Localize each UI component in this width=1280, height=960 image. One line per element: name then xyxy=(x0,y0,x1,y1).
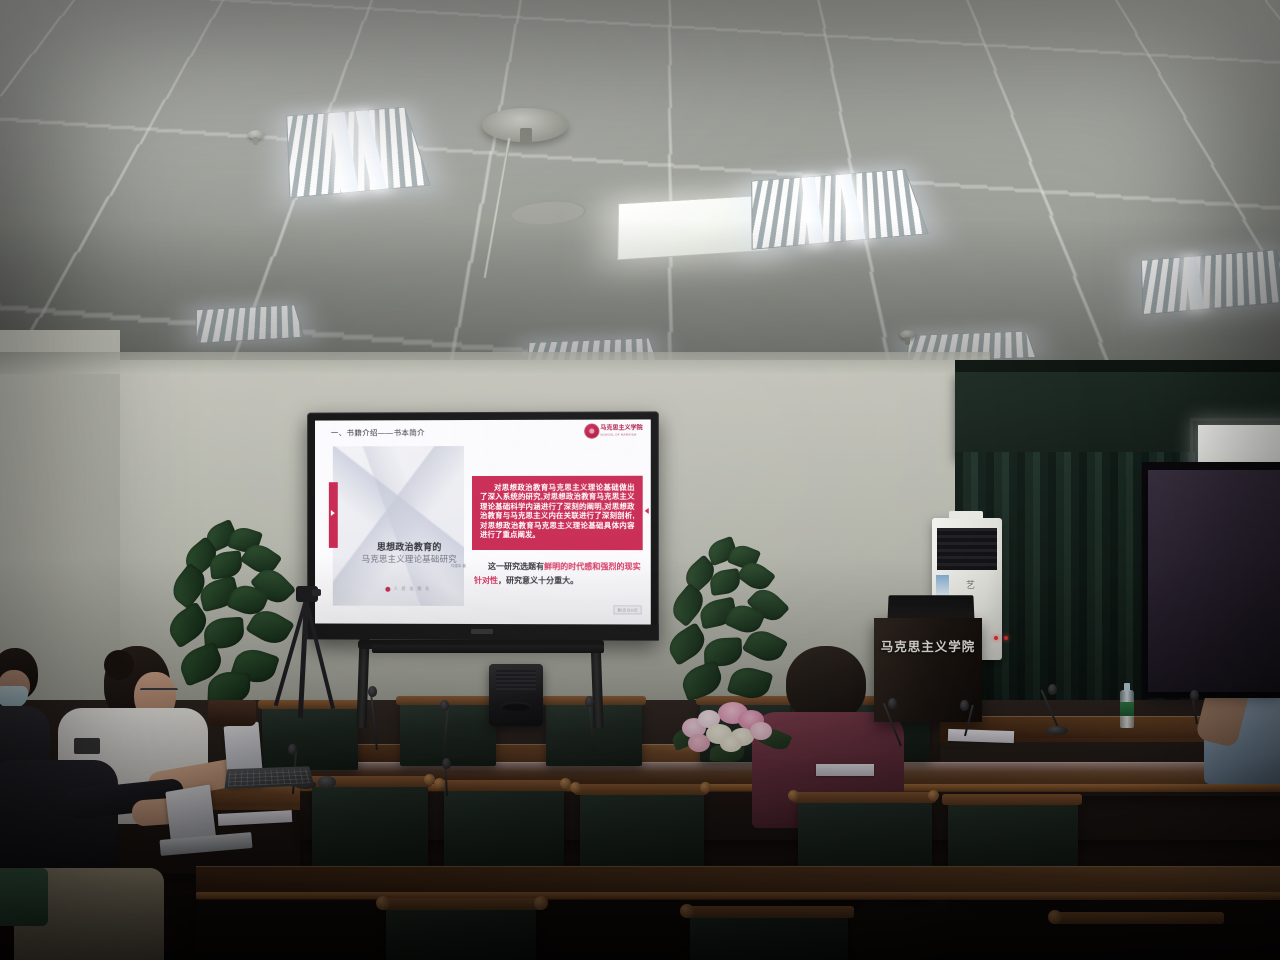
chair-frame-front-4 xyxy=(792,792,936,803)
chair-knob-front-4 xyxy=(788,790,799,801)
interactive-flat-panel-display[interactable]: 一、书籍介绍——书本简介 马克思主义学院 SCHOOL OF MARXISM 思… xyxy=(307,411,659,640)
slide-polygon-graphic xyxy=(333,446,464,606)
chair-frame-foreground-3 xyxy=(1054,912,1224,924)
display-screen[interactable]: 一、书籍介绍——书本简介 马克思主义学院 SCHOOL OF MARXISM 思… xyxy=(315,419,651,624)
camera-tripod-head[interactable] xyxy=(296,586,318,602)
publisher-name: 人 民 出 版 社 xyxy=(394,586,431,592)
chair-knob-front-3b xyxy=(700,782,711,793)
chair-front-1[interactable] xyxy=(312,782,428,872)
microphone-head-8 xyxy=(960,700,969,711)
paper-document-center xyxy=(816,764,874,776)
microphone-head-7 xyxy=(442,758,451,769)
conclusion-lead: 这一研究选题有 xyxy=(488,562,544,571)
chair-frame-foreground-1 xyxy=(380,898,542,910)
flower-arrangement xyxy=(676,700,784,760)
seal-icon xyxy=(585,425,598,438)
chair-frame-front-5 xyxy=(942,794,1082,805)
potted-plant-right xyxy=(664,540,790,726)
rose-3 xyxy=(688,734,710,752)
presentation-slide: 一、书籍介绍——书本简介 马克思主义学院 SCHOOL OF MARXISM 思… xyxy=(315,419,651,624)
chair-knob-front-2 xyxy=(434,778,445,789)
microphone-head-4 xyxy=(888,698,897,709)
slide-left-accent-tab xyxy=(329,482,338,548)
bag-green xyxy=(0,868,48,926)
microphone-base-5 xyxy=(1046,726,1068,735)
red-block-paragraph: 对思想政治教育马克思主义理论基础做出了深入系统的研究,对思想政治教育马克思主义理… xyxy=(480,483,635,540)
table-edge-foreground xyxy=(196,892,1280,899)
podium-label: 马克思主义学院 xyxy=(878,636,978,655)
microphone-head-1 xyxy=(368,686,377,697)
chair-foreground-1[interactable] xyxy=(386,904,536,960)
paper-document-right xyxy=(948,729,1014,743)
chair-knob-front-4b xyxy=(928,790,939,801)
logo-text: 马克思主义学院 xyxy=(600,426,642,432)
microphone-head-2 xyxy=(440,700,449,711)
book-author: 刘建军 著 xyxy=(410,564,466,569)
chair-knob-fg-1b xyxy=(534,896,548,910)
logo-subtext: SCHOOL OF MARXISM xyxy=(600,432,642,436)
head-maroon xyxy=(786,646,866,722)
book-publisher: 人 民 出 版 社 xyxy=(355,586,462,592)
book-title: 思想政治教育的 xyxy=(355,540,464,553)
chair-frame-front-3 xyxy=(574,784,708,795)
ac-vent-grille xyxy=(937,528,997,570)
rose-4 xyxy=(750,722,772,740)
conclusion-tail: ，研究意义十分重大。 xyxy=(498,576,578,585)
chair-knob-front-3 xyxy=(570,782,581,793)
torso-dark-jacket xyxy=(0,760,118,880)
conclusion-highlight-1: 鲜明的时代感和强烈的现 xyxy=(544,562,633,571)
chair-foreground-2[interactable] xyxy=(690,912,848,960)
chair-knob-fg-2 xyxy=(680,904,694,918)
cream-flower-3 xyxy=(720,736,742,752)
ac-top-cap xyxy=(949,511,983,519)
wireless-keyboard[interactable] xyxy=(224,766,314,789)
suspended-ceiling xyxy=(0,0,1280,400)
slide-red-text-block: 对思想政治教育马克思主义理论基础做出了深入系统的研究,对思想政治教育马克思主义理… xyxy=(472,476,643,550)
chair-knob-fg-1 xyxy=(376,896,390,910)
slide-heading: 一、书籍介绍——书本简介 xyxy=(331,427,425,438)
secondary-display[interactable] xyxy=(1148,470,1280,692)
microphone-head-6 xyxy=(288,744,297,755)
attendee-dark-jacket xyxy=(0,760,200,960)
slide-conclusion: 这一研究选题有鲜明的时代感和强烈的现实针对性，研究意义十分重大。 xyxy=(474,560,641,588)
podium-led-2 xyxy=(1004,636,1008,640)
bottle-label xyxy=(1120,702,1134,716)
shirt-graphic xyxy=(74,738,100,754)
floor-speaker xyxy=(489,664,543,726)
wireless-mouse[interactable] xyxy=(318,776,336,788)
hair-bun xyxy=(104,650,134,680)
slide-page-badge: 第1页 共10页 xyxy=(613,605,641,614)
publisher-mark-icon xyxy=(386,586,391,591)
podium-led-1 xyxy=(994,636,998,640)
chair-frame-front-2 xyxy=(438,780,568,791)
university-seal-logo: 马克思主义学院 SCHOOL OF MARXISM xyxy=(585,424,642,437)
microphone-head-3 xyxy=(585,696,594,707)
microphone-head-9 xyxy=(1190,690,1199,701)
face-mask-icon xyxy=(0,686,28,708)
plant-pot-left xyxy=(208,700,256,726)
wall-soffit xyxy=(0,352,990,374)
chair-knob-fg-3 xyxy=(1048,910,1062,924)
chair-frame-foreground-2 xyxy=(684,906,854,918)
display-chin-bar xyxy=(307,623,659,640)
slide-right-accent-arrow xyxy=(645,508,649,514)
microphone-head-5 xyxy=(1048,684,1057,695)
conference-room-photo: 艺 一、书籍介绍——书本简介 马克思主义学院 SCHOOL OF MARXISM… xyxy=(0,0,1280,960)
display-stand-shelf xyxy=(372,645,604,653)
